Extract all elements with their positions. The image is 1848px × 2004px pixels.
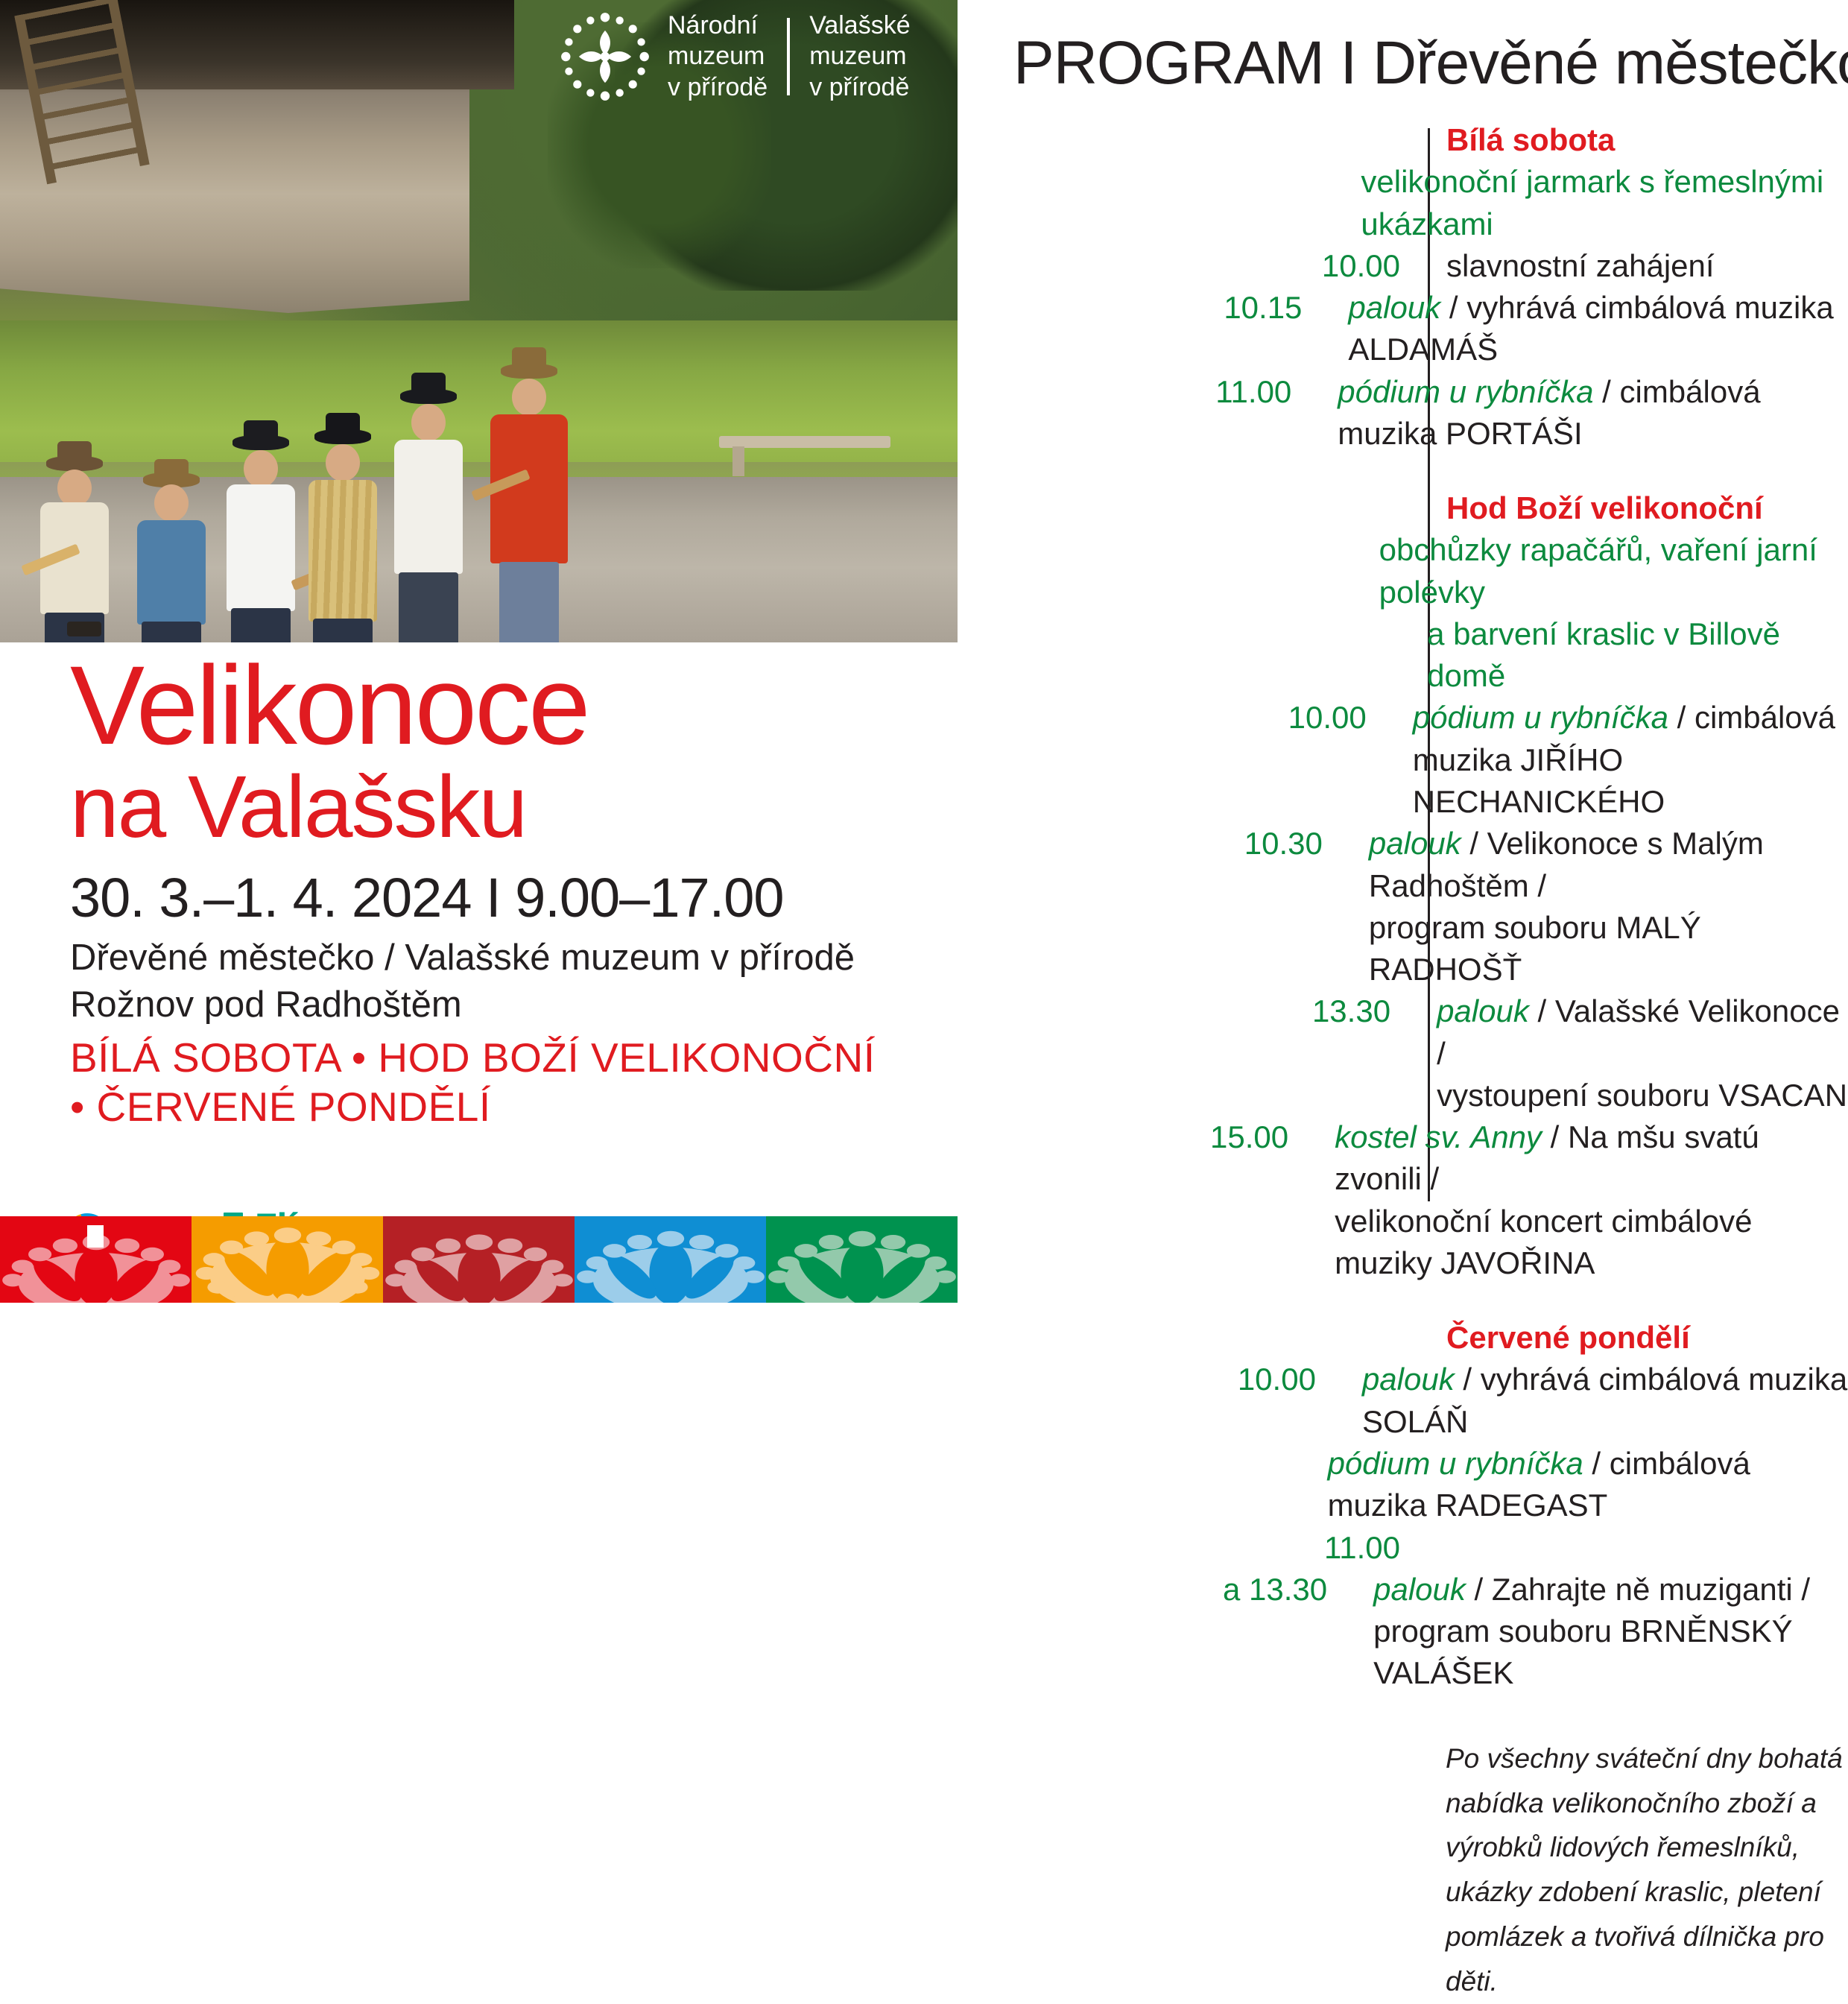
photo-child-legs — [231, 608, 291, 642]
program-row: 10.00palouk / vyhrává cimbálová muzika S… — [958, 1359, 1848, 1443]
days-line-1: BÍLÁ SOBOTA • HOD BOŽÍ VELIKONOČNÍ — [70, 1033, 875, 1082]
photo-child-head — [326, 444, 360, 481]
museum-logo-text: Národní muzeum v přírodě Valašské muzeum… — [668, 10, 911, 103]
venue-line-1: Dřevěné městečko / Valašské muzeum v pří… — [70, 935, 855, 982]
program-list: Bílá sobotavelikonoční jarmark s řemesln… — [958, 119, 1848, 2004]
program-entry-text: pódium u rybníčka / cimbálovámuzika JIŘÍ… — [1389, 697, 1848, 823]
program-entry-location: pódium u rybníčka — [1328, 1446, 1583, 1481]
program-entry-time: 13.30 — [958, 990, 1413, 1032]
program-row: 13.30palouk / Valašské Velikonoce /vysto… — [958, 990, 1848, 1116]
logo-right-block: Valašské muzeum v přírodě — [809, 10, 910, 103]
poster-root: Národní muzeum v přírodě Valašské muzeum… — [0, 0, 1848, 1303]
photo-bench — [719, 436, 890, 448]
program-entry-time: 10.00 — [958, 697, 1389, 739]
program-note-row: Po všechny sváteční dny bohatá nabídka v… — [958, 1736, 1848, 2004]
photo-child-body — [137, 520, 206, 625]
program-row: velikonoční jarmark s řemeslnými ukázkam… — [958, 161, 1848, 245]
decorative-strip — [0, 1216, 958, 1303]
program-row: a barvení kraslic v Billově domě — [958, 613, 1848, 698]
program-entry-text: palouk / vyhrává cimbálová muzika ALDAMÁ… — [1324, 287, 1848, 371]
program-entry-time: 10.15 — [958, 287, 1324, 329]
photo-child-legs — [142, 622, 201, 642]
program-entry-time: 10.00 — [958, 1359, 1338, 1400]
program-section-gap — [958, 455, 1848, 487]
logo-divider — [787, 18, 790, 95]
strip-cell — [383, 1216, 575, 1303]
logo-right-line-1: Valašské — [809, 10, 910, 41]
photo-child-head — [244, 450, 278, 487]
logo-left-block: Národní muzeum v přírodě — [668, 10, 768, 103]
photo-child-boot — [67, 622, 101, 636]
page-title: Velikonoce — [70, 653, 589, 758]
page-subtitle: na Valašsku — [70, 763, 526, 851]
event-days: BÍLÁ SOBOTA • HOD BOŽÍ VELIKONOČNÍ • ČER… — [70, 1033, 875, 1131]
program-section-gap — [958, 1284, 1848, 1317]
program-entry-time: 10.00 — [958, 245, 1423, 287]
poster-text-block: Velikonoce na Valašsku 30. 3.–1. 4. 2024… — [0, 642, 958, 1303]
program-row: 11.00 — [958, 1527, 1848, 1569]
program-row: 10.00slavnostní zahájení — [958, 245, 1848, 287]
program-entry-location: palouk — [1362, 1362, 1455, 1397]
program-entry-location: palouk — [1369, 826, 1461, 861]
program-row: 11.00pódium u rybníčka / cimbálová muzik… — [958, 371, 1848, 455]
event-date-line: 30. 3.–1. 4. 2024 I 9.00–17.00 — [70, 866, 784, 929]
rosette-icon — [559, 10, 651, 103]
photo-child-hat-crown — [411, 373, 446, 392]
program-section-subtitle: a barvení kraslic v Billově domě — [1403, 613, 1848, 698]
program-note-gap — [958, 1695, 1848, 1736]
program-section-title: Červené pondělí — [1423, 1317, 1690, 1359]
logo-left-line-1: Národní — [668, 10, 768, 41]
strip-cell — [192, 1216, 383, 1303]
program-entry-text: palouk / Velikonoce s Malým Radhoštěm /p… — [1345, 823, 1848, 990]
program-row: 10.15palouk / vyhrává cimbálová muzika A… — [958, 287, 1848, 371]
program-section-subtitle: velikonoční jarmark s řemeslnými ukázkam… — [1337, 161, 1848, 245]
photo-child-hat-crown — [326, 413, 360, 432]
program-entry-location: pódium u rybníčka — [1413, 700, 1668, 735]
museum-logo: Národní muzeum v přírodě Valašské muzeum… — [559, 10, 911, 103]
photo-child-legs — [499, 562, 559, 642]
event-venue: Dřevěné městečko / Valašské muzeum v pří… — [70, 935, 855, 1028]
photo-child-legs — [313, 619, 373, 642]
photo-child-head — [154, 484, 189, 522]
program-section-subtitle: obchůzky rapačářů, vaření jarní polévky — [1355, 529, 1848, 613]
strip-cell — [766, 1216, 958, 1303]
photo-child-hat-crown — [154, 459, 189, 478]
program-entry-text: pódium u rybníčka / cimbálová muzika POR… — [1314, 371, 1848, 455]
photo-child-hat-crown — [57, 441, 92, 461]
strip-cell — [575, 1216, 766, 1303]
program-entry-text: palouk / Zahrajte ně muziganti /program … — [1349, 1569, 1848, 1695]
program-entry-time: 10.30 — [958, 823, 1345, 864]
program-entry-location: pódium u rybníčka — [1338, 374, 1593, 409]
photo-child-head — [411, 404, 446, 441]
photo-child-hat-crown — [512, 347, 546, 367]
program-section-title: Bílá sobota — [1423, 119, 1615, 161]
program-entry-location: palouk — [1373, 1572, 1466, 1607]
program-entry-text: palouk / vyhrává cimbálová muzika SOLÁŇ — [1338, 1359, 1848, 1443]
program-column: PROGRAM I Dřevěné městečko Bílá sobotave… — [958, 0, 1848, 1303]
photo-child-head — [57, 470, 92, 507]
program-row: Červené pondělí — [958, 1317, 1848, 1359]
venue-line-2: Rožnov pod Radhoštěm — [70, 982, 855, 1028]
program-row: Hod Boží velikonoční — [958, 487, 1848, 529]
program-row: 10.30palouk / Velikonoce s Malým Radhošt… — [958, 823, 1848, 990]
program-entry-time: 11.00 — [958, 1527, 1423, 1569]
program-row: obchůzky rapačářů, vaření jarní polévky — [958, 529, 1848, 613]
program-entry-location: palouk — [1348, 290, 1440, 325]
logo-left-line-2: muzeum — [668, 41, 768, 72]
program-entry-location: kostel sv. Anny — [1335, 1119, 1542, 1154]
program-row: 10.00pódium u rybníčka / cimbálovámuzika… — [958, 697, 1848, 823]
photo-child-body — [394, 440, 463, 574]
program-row: a 13.30palouk / Zahrajte ně muziganti /p… — [958, 1569, 1848, 1695]
program-row: pódium u rybníčka / cimbálová muzika RAD… — [958, 1443, 1848, 1527]
logo-right-line-2: muzeum — [809, 41, 910, 72]
program-entry-location: palouk — [1437, 993, 1529, 1028]
program-row: Bílá sobota — [958, 119, 1848, 161]
logo-left-line-3: v přírodě — [668, 72, 768, 103]
program-row: 15.00kostel sv. Anny / Na mšu svatú zvon… — [958, 1116, 1848, 1284]
photo-child-head — [512, 379, 546, 416]
program-entry-text: kostel sv. Anny / Na mšu svatú zvonili /… — [1311, 1116, 1848, 1284]
photo-child-legs — [399, 572, 458, 642]
days-line-2: • ČERVENÉ PONDĚLÍ — [70, 1082, 875, 1131]
photo-child-hat-crown — [244, 420, 278, 440]
left-column: Národní muzeum v přírodě Valašské muzeum… — [0, 0, 958, 1303]
logo-right-line-3: v přírodě — [809, 72, 910, 103]
program-note: Po všechny sváteční dny bohatá nabídka v… — [1422, 1736, 1848, 2004]
program-entry-text: slavnostní zahájení — [1423, 245, 1715, 287]
photo-child-body — [227, 484, 295, 611]
program-section-title: Hod Boží velikonoční — [1423, 487, 1763, 529]
program-entry-time: 15.00 — [958, 1116, 1311, 1158]
program-entry-text: pódium u rybníčka / cimbálová muzika RAD… — [1304, 1443, 1848, 1527]
photo-child-body-straw — [308, 480, 377, 622]
program-heading: PROGRAM I Dřevěné městečko — [1013, 28, 1848, 98]
program-entry-time: a 13.30 — [958, 1569, 1349, 1611]
program-entry-text: palouk / Valašské Velikonoce /vystoupení… — [1413, 990, 1848, 1116]
program-entry-time: 11.00 — [958, 371, 1314, 413]
